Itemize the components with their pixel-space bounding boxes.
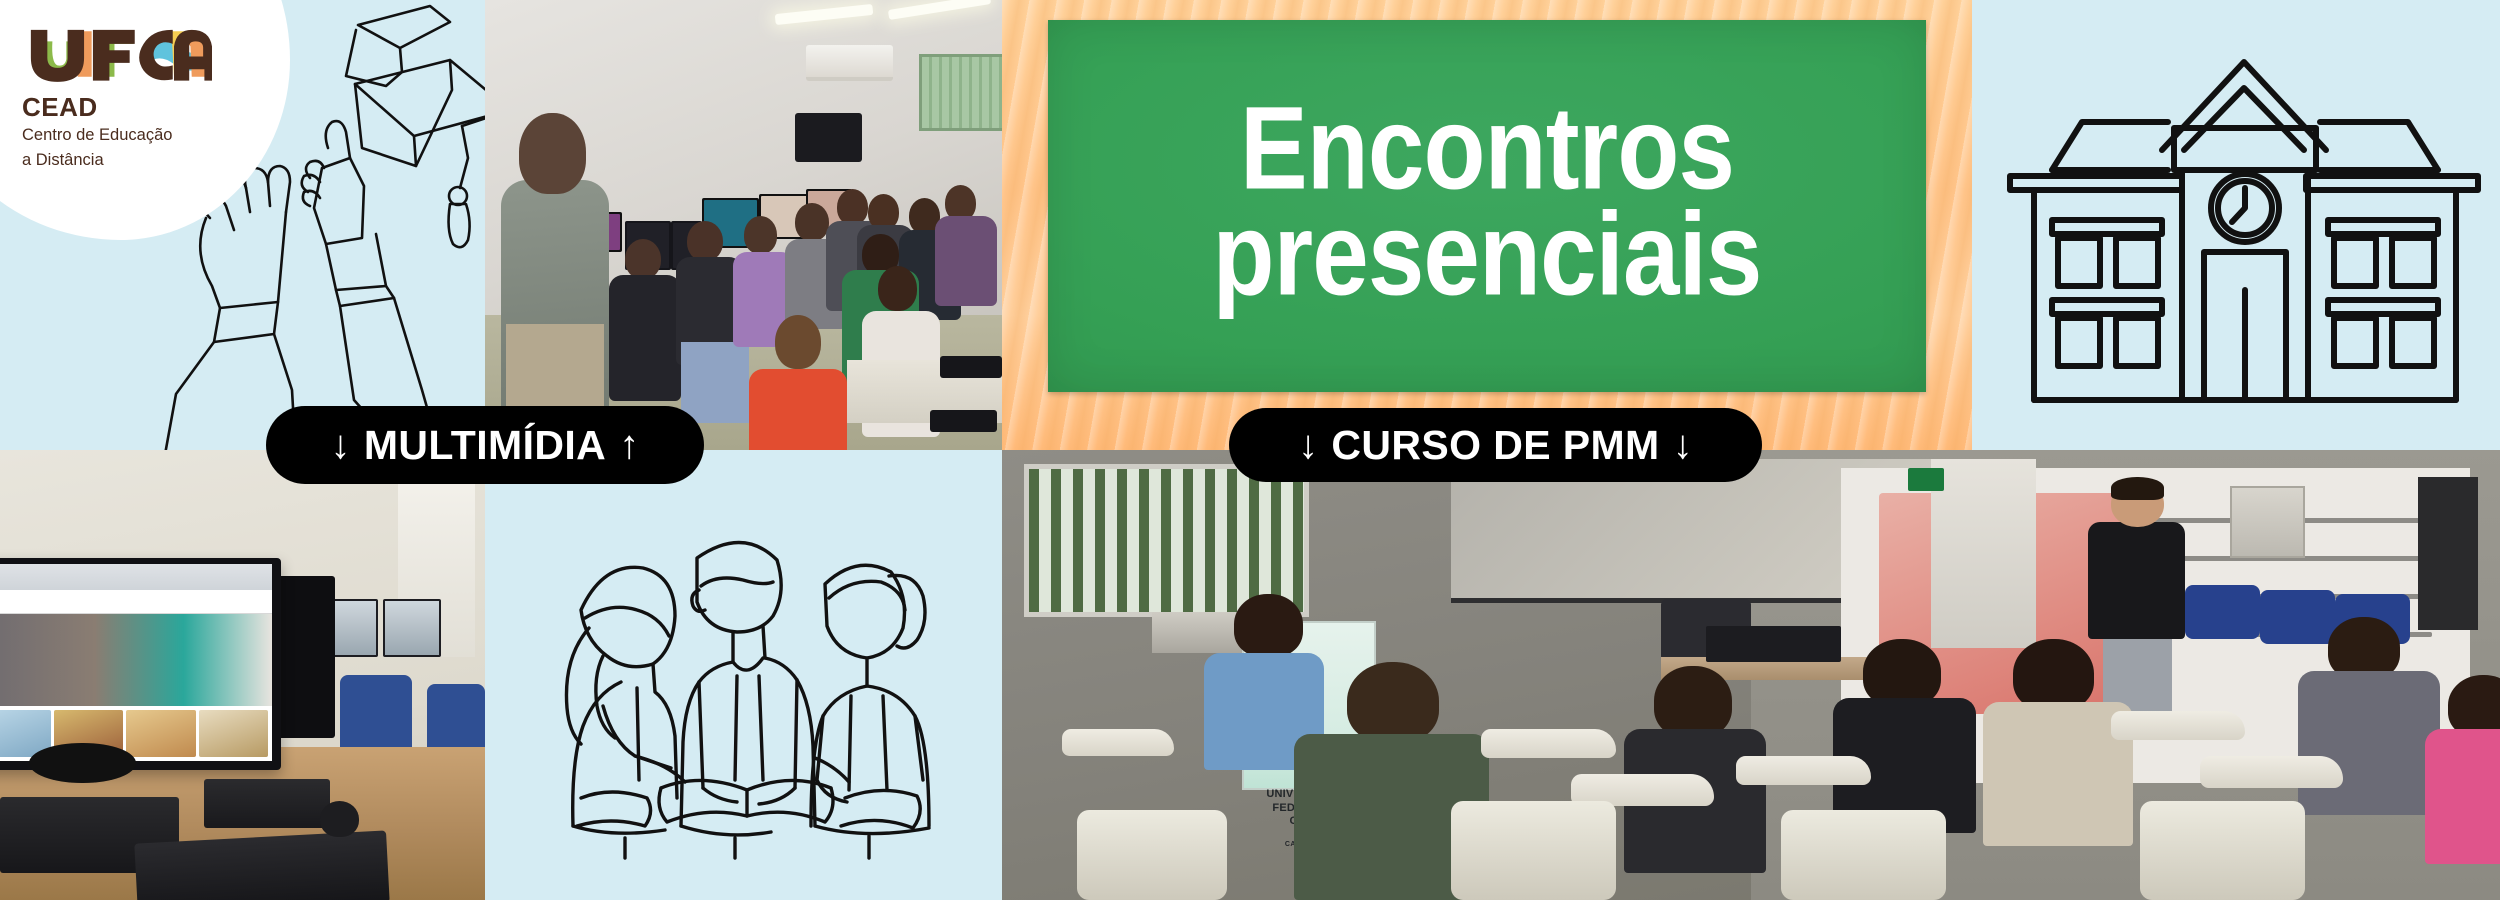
tablet-arm-desk bbox=[1736, 756, 1871, 785]
headline-text: Encontros presenciais bbox=[1048, 96, 1926, 308]
monitor-stand bbox=[29, 743, 136, 784]
student-head bbox=[1863, 639, 1941, 707]
badge-curso-pmm-label: CURSO DE PMM bbox=[1331, 422, 1659, 469]
keyboard bbox=[134, 830, 390, 900]
instructor-hair bbox=[2111, 477, 2165, 500]
panel-chalkboard-headline: Encontros presenciais bbox=[1002, 0, 1972, 450]
student-head bbox=[1654, 666, 1732, 738]
unit-acronym: CEAD bbox=[22, 94, 232, 120]
slide-text-line bbox=[2181, 556, 2433, 561]
panel-workstation-photo bbox=[0, 450, 485, 900]
panel-students-reading-illustration bbox=[485, 450, 1002, 900]
student-head bbox=[687, 221, 723, 262]
badge-multimidia[interactable]: ↓ MULTIMÍDIA ↑ bbox=[266, 406, 704, 484]
wall-monitor bbox=[795, 113, 862, 163]
student-head bbox=[878, 266, 917, 311]
arrow-down-icon: ↓ bbox=[330, 423, 350, 468]
keyboard bbox=[940, 356, 1002, 379]
tablet-arm-desk bbox=[1481, 729, 1616, 758]
monitor-screen bbox=[0, 564, 272, 761]
site-navbar bbox=[0, 590, 272, 614]
desktop-tower bbox=[204, 779, 330, 829]
student-head bbox=[837, 189, 868, 225]
site-hero-image bbox=[0, 614, 272, 706]
student-head bbox=[1234, 594, 1303, 657]
panel-computer-lab-class-photo bbox=[485, 0, 1002, 450]
background-monitor bbox=[383, 599, 441, 658]
classroom-photo bbox=[485, 0, 1002, 450]
exit-sign-icon bbox=[1908, 468, 1944, 491]
instructor-torso bbox=[2088, 522, 2185, 639]
chair-back bbox=[1781, 810, 1946, 900]
wall-frame bbox=[2418, 477, 2478, 630]
student-head bbox=[625, 239, 661, 280]
badge-multimidia-label: MULTIMÍDIA bbox=[364, 422, 606, 469]
students-reading-line-art bbox=[485, 450, 1002, 900]
student-head bbox=[2013, 639, 2094, 711]
tablet-arm-desk bbox=[2111, 711, 2246, 740]
student-head bbox=[744, 216, 778, 254]
keyboard bbox=[930, 410, 997, 433]
laptop bbox=[1706, 626, 1841, 662]
instructor-head bbox=[519, 113, 586, 194]
student-jeans bbox=[681, 342, 748, 423]
panel-school-building-illustration bbox=[1972, 0, 2500, 450]
headline-line-1: Encontros bbox=[1123, 96, 1851, 202]
workstation-photo bbox=[0, 450, 485, 900]
arrow-up-icon: ↑ bbox=[619, 423, 639, 468]
student-body bbox=[2298, 671, 2440, 815]
air-conditioner bbox=[806, 45, 894, 81]
tablet-arm-desk bbox=[1062, 729, 1174, 756]
brand-lockup: CEAD Centro de Educação a Distância bbox=[22, 22, 232, 170]
chalkboard-surface: Encontros presenciais bbox=[1048, 20, 1926, 392]
stacked-chair bbox=[2185, 585, 2260, 639]
unit-name-line2: a Distância bbox=[22, 150, 232, 170]
tablet-arm-desk bbox=[2200, 756, 2342, 788]
browser-chrome bbox=[0, 564, 272, 590]
chair-back bbox=[2140, 801, 2305, 900]
student-body bbox=[749, 369, 847, 450]
electrical-panel bbox=[2230, 486, 2305, 558]
student-body bbox=[2425, 729, 2500, 864]
lecture-hall-photo: UNIVERSIDADE FEDERAL DO CARIRI CAMPUS IC… bbox=[1002, 450, 2500, 900]
arrow-down-icon: ↓ bbox=[1298, 423, 1318, 468]
student-head bbox=[775, 315, 822, 369]
ufca-wordmark-icon bbox=[22, 22, 212, 86]
arrow-down-icon: ↓ bbox=[1673, 423, 1693, 468]
stacked-chair bbox=[2260, 590, 2335, 644]
mouse bbox=[320, 801, 359, 837]
student-body bbox=[609, 275, 681, 401]
chair-back bbox=[1451, 801, 1616, 900]
student-body bbox=[935, 216, 997, 306]
window-grate bbox=[919, 54, 1002, 131]
headline-line-2: presenciais bbox=[1123, 202, 1851, 308]
panel-graduation-illustration: CEAD Centro de Educação a Distância bbox=[0, 0, 485, 450]
student-head bbox=[795, 203, 829, 241]
student-head bbox=[1347, 662, 1440, 743]
classroom-door bbox=[1931, 459, 2036, 648]
promotional-banner: CEAD Centro de Educação a Distância bbox=[0, 0, 2500, 900]
unit-name-line1: Centro de Educação bbox=[22, 125, 232, 145]
school-building-line-art bbox=[1972, 0, 2500, 450]
panel-lecture-hall-photo: UNIVERSIDADE FEDERAL DO CARIRI CAMPUS IC… bbox=[1002, 450, 2500, 900]
badge-curso-pmm[interactable]: ↓ CURSO DE PMM ↓ bbox=[1229, 408, 1762, 482]
chair-back bbox=[1077, 810, 1227, 900]
primary-monitor bbox=[0, 558, 281, 770]
